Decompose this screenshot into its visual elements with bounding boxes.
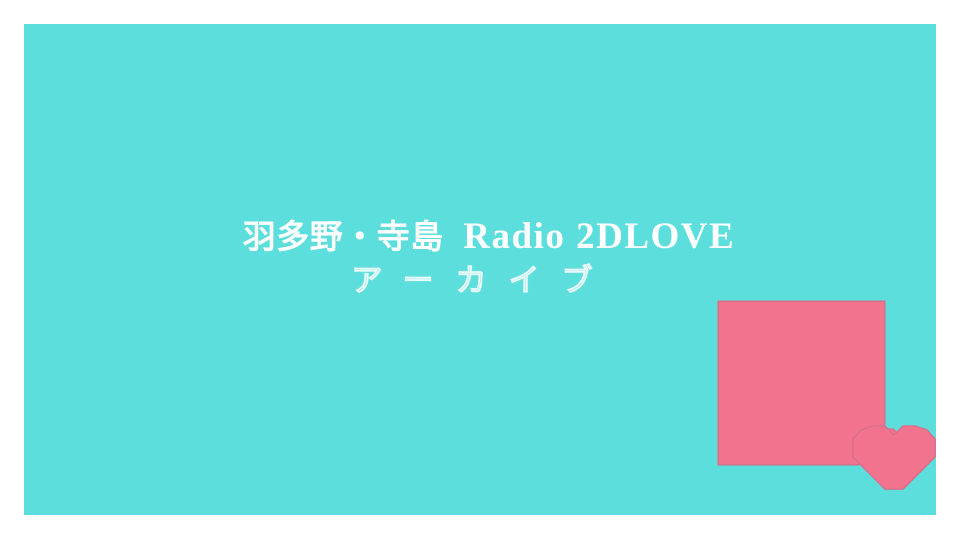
heart-icon (851, 421, 937, 491)
screenshot-root: 羽多野・寺島 Radio 2DLOVE アーカイブ (0, 0, 960, 540)
title-card-panel (24, 24, 936, 515)
